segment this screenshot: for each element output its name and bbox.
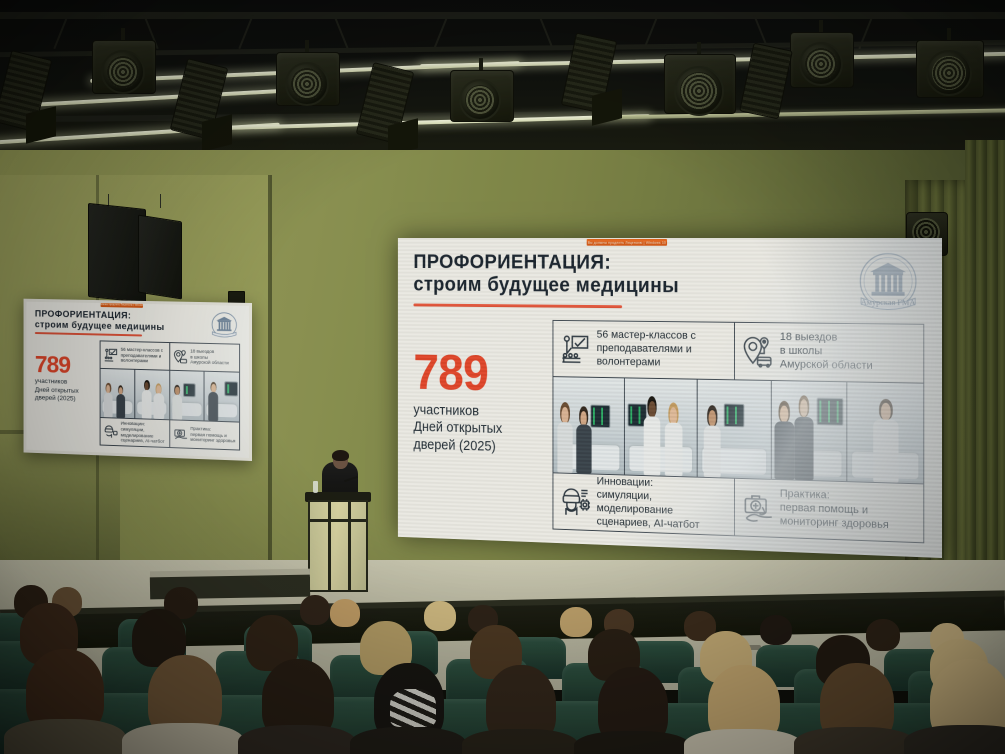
photo-sim-lab-2 (624, 378, 697, 476)
preview-panel-innovations-text: Инновации: симуляции, моделирование сцен… (121, 421, 165, 445)
preview-panel-innovations: Инновации: симуляции, моделирование сцен… (101, 418, 169, 447)
presenter-board-icon (560, 332, 591, 365)
preview-photo-3 (169, 371, 204, 421)
stage-spotlight (566, 26, 618, 122)
presenter-hair (332, 450, 349, 461)
preview-panel-masterclasses: 56 мастер-классов с преподавателями и во… (101, 341, 169, 369)
audience-striped-sleeve (390, 689, 436, 727)
vitals-monitor (816, 398, 843, 426)
line2: в школы (780, 345, 822, 357)
panel-masterclasses: 56 мастер-классов с преподавателями и во… (553, 321, 733, 379)
stage-light (276, 40, 338, 102)
line1: Практика: (780, 488, 830, 501)
audience-shoulders (904, 725, 1005, 754)
photo-sim-lab-4 (771, 381, 847, 481)
audience-shoulders (794, 727, 916, 754)
line2: симуляции, (597, 489, 652, 502)
preview-info-panels: 56 мастер-классов с преподавателями и во… (100, 340, 240, 450)
line3: мониторинг здоровья (190, 437, 235, 444)
line3: моделирование (597, 502, 673, 516)
audience-shoulders (574, 731, 690, 754)
preview-stat-block: 789 участников Дней открытых дверей (202… (35, 339, 94, 445)
line3: волонтерами (597, 356, 661, 369)
panel-practice-text: Практика: первая помощь и мониторинг здо… (780, 488, 889, 533)
audience (0, 585, 1005, 754)
stage-light (790, 20, 852, 84)
audience-head (330, 599, 360, 627)
preview-title-underline (35, 332, 142, 336)
preview-photo-1 (101, 369, 134, 418)
preview-panel-school-visits: 18 выездов в школы Амурской области (169, 343, 239, 372)
line3: мониторинг здоровья (780, 515, 889, 531)
photo-sim-lab-3 (697, 380, 771, 479)
panel-row-top: 56 мастер-классов с преподавателями и во… (553, 321, 923, 384)
truss-beam (0, 12, 1005, 19)
student-figure (794, 395, 813, 480)
line3: Амурской области (780, 359, 873, 372)
audience-shoulders (4, 719, 126, 754)
slide-title-line1: ПРОФОРИЕНТАЦИЯ: (413, 251, 924, 276)
photo-sim-lab-1 (553, 377, 624, 474)
audience-shoulders (122, 723, 244, 754)
preview-stat-number: 789 (35, 354, 94, 377)
preview-photo-strip (101, 369, 240, 422)
student-figure (703, 405, 720, 477)
audience-shoulders (350, 727, 466, 754)
stage-spotlight (744, 36, 796, 128)
student-figure (558, 402, 573, 473)
line3: дверей (2025) (35, 394, 94, 404)
stage-light (450, 58, 512, 118)
preview-photo-4 (204, 372, 239, 422)
audience-shoulders (684, 729, 802, 754)
conference-hall-photo: Вы должны продлить Лицензию | Windows 10… (0, 0, 1005, 754)
panel-row-bottom: Инновации: симуляции, моделирование сцен… (553, 472, 923, 542)
line4: сценариев, AI-чатбот (121, 437, 165, 443)
logo-text: Амурская ГМА (861, 297, 916, 307)
sim-bed (629, 446, 692, 473)
line3: Амурской области (190, 360, 228, 366)
stat-caption: участников Дней открытых дверей (2025) (413, 402, 541, 458)
slide-title: ПРОФОРИЕНТАЦИЯ: строим будущее медицины (413, 251, 924, 300)
vr-headset-chip-icon (560, 485, 591, 519)
doctor-figure (873, 399, 899, 483)
line3: волонтерами (121, 358, 148, 364)
title-underline (413, 303, 622, 308)
audience-head (300, 595, 330, 625)
panel-innovations: Инновации: симуляции, моделирование сцен… (553, 473, 733, 535)
preview-panel-masterclasses-text: 56 мастер-классов с преподавателями и во… (121, 347, 163, 365)
stat-caption-line3: дверей (2025) (413, 436, 541, 457)
stage-spotlight (0, 44, 52, 140)
first-aid-cpr-icon (741, 491, 773, 525)
preview-panel-practice-text: Практика: первая помощь и мониторинг здо… (190, 426, 235, 444)
academy-logo: Амурская ГМА (850, 246, 926, 320)
license-notification-banner: Вы должны продлить Лицензию | Windows 10 (587, 239, 667, 246)
line1: 56 мастер-классов с (597, 329, 696, 342)
stage-light (916, 28, 982, 94)
main-projection-screen[interactable]: Вы должны продлить Лицензию | Windows 10… (398, 238, 942, 558)
preview-photo-2 (134, 370, 169, 419)
student-figure (576, 406, 591, 473)
line2: первая помощь и (780, 502, 868, 517)
pa-speaker-cluster (88, 206, 184, 302)
stage-light (92, 28, 154, 90)
stage-spotlight (362, 56, 414, 152)
audience-head (866, 619, 900, 651)
line1: 18 выездов (780, 331, 838, 344)
speaker-podium (308, 500, 368, 592)
preview-panel-school-visits-text: 18 выездов в школы Амурской области (190, 349, 228, 367)
first-aid-cpr-icon (173, 426, 188, 441)
audience-head (760, 615, 792, 645)
stage-spotlight (176, 52, 228, 148)
panel-practice: Практика: первая помощь и мониторинг здо… (734, 479, 924, 543)
student-figure (665, 402, 682, 476)
slatted-acoustic-wall (965, 140, 1005, 620)
photo-strip (553, 377, 923, 483)
panel-school-visits-text: 18 выездов в школы Амурской области (780, 331, 873, 373)
vitals-monitor (590, 405, 610, 428)
presenter-board-icon (103, 347, 117, 362)
map-pin-bus-icon (741, 335, 773, 369)
slide-title-line2: строим будущее медицины (413, 274, 924, 301)
preview-panel-practice: Практика: первая помощь и мониторинг здо… (169, 420, 239, 449)
vitals-monitor (724, 403, 745, 427)
audience-head (424, 601, 456, 631)
panel-school-visits: 18 выездов в школы Амурской области (734, 323, 924, 383)
line2: преподавателями и (597, 342, 692, 355)
preview-stat-caption: участников Дней открытых дверей (2025) (35, 378, 94, 405)
map-pin-bus-icon (173, 349, 188, 364)
preview-panel-row-top: 56 мастер-классов с преподавателями и во… (101, 341, 240, 372)
audience-head (560, 607, 592, 637)
panel-innovations-text: Инновации: симуляции, моделирование сцен… (597, 476, 700, 533)
slide-body: 789 участников Дней открытых дверей (202… (413, 318, 924, 543)
stat-number: 789 (413, 350, 541, 398)
vr-headset-chip-icon (103, 424, 117, 439)
preview-slide-content: Вы должны продлить Лицензию | Windows 10… (26, 302, 249, 458)
line4: сценариев, AI-чатбот (597, 516, 700, 531)
slide-content: Вы должны продлить Лицензию | Windows 10… (398, 238, 942, 558)
doctor-figure (643, 396, 660, 476)
stage-light (664, 42, 734, 112)
audience-shoulders (462, 729, 578, 754)
stat-block: 789 участников Дней открытых дверей (202… (413, 318, 541, 529)
preview-panel-row-bottom: Инновации: симуляции, моделирование сцен… (101, 417, 240, 449)
photo-sim-lab-5 (846, 382, 923, 483)
license-notification-banner-preview: Вы должны продлить Лицензию | Windows 10 (101, 303, 143, 308)
student-figure (775, 401, 794, 480)
preview-slide-body: 789 участников Дней открытых дверей (202… (35, 339, 240, 451)
line1: Инновации: (597, 476, 653, 489)
panel-masterclasses-text: 56 мастер-классов с преподавателями и во… (597, 329, 696, 371)
water-bottle (313, 481, 318, 493)
info-panels: 56 мастер-классов с преподавателями и во… (553, 320, 925, 543)
preview-academy-logo (207, 309, 241, 342)
audience-shoulders (238, 725, 356, 754)
wall-seam (268, 175, 272, 595)
confidence-monitor[interactable]: Вы должны продлить Лицензию | Windows 10… (24, 299, 252, 461)
